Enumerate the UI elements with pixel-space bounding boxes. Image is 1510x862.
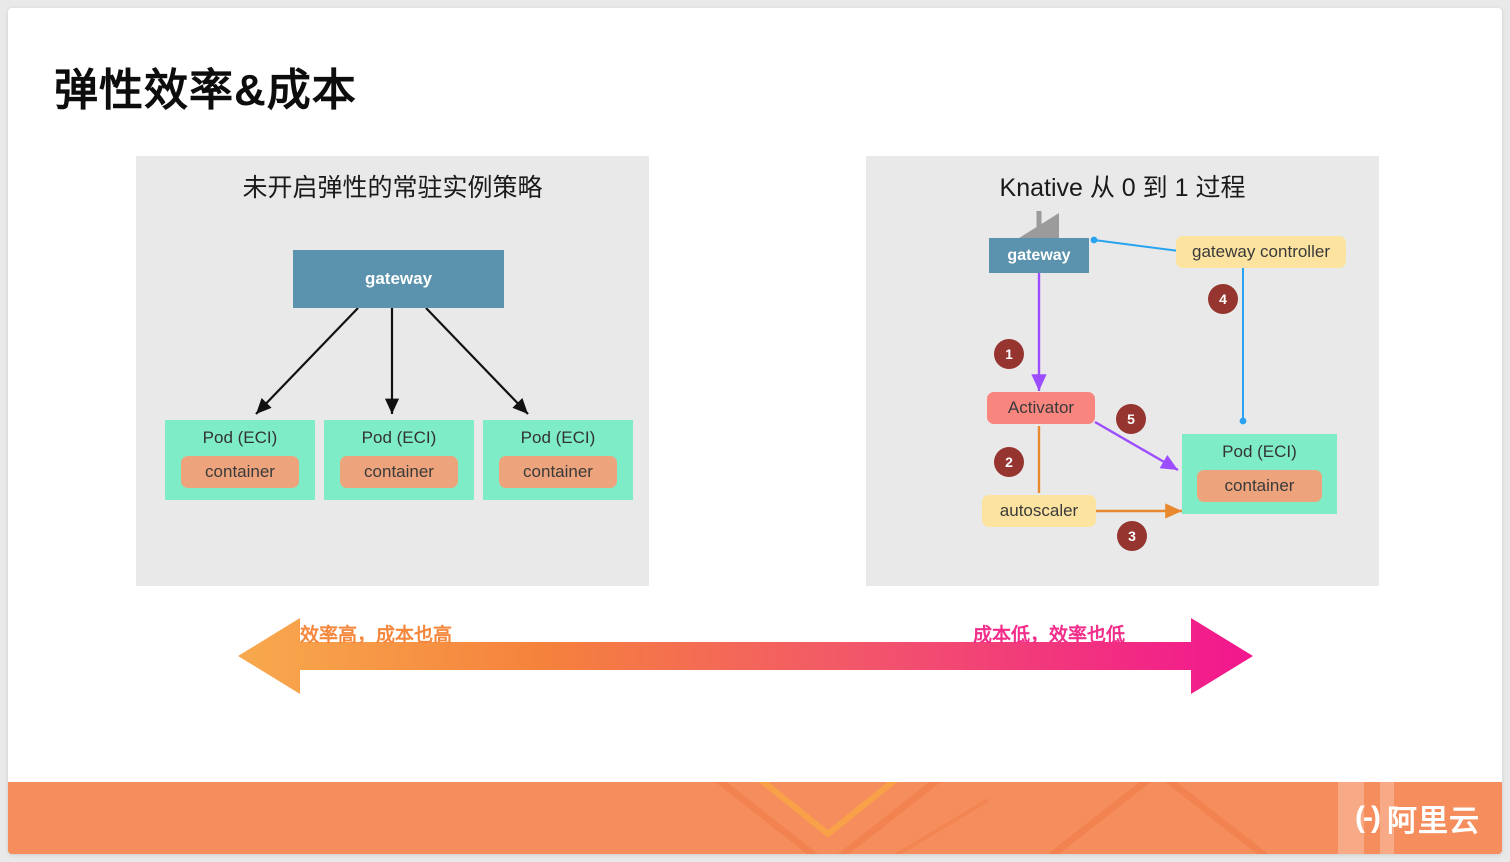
pod-title: Pod (ECI) [1222,442,1297,462]
activator-label: Activator [1008,398,1074,418]
axis-label-right: 成本低，效率也低 [973,620,1125,647]
pod-container-box[interactable]: container [499,456,617,488]
pod-container-label: container [364,462,434,482]
left-gateway-node[interactable]: gateway [293,250,504,308]
gateway-controller-label: gateway controller [1192,242,1330,262]
pod-title: Pod (ECI) [203,428,278,448]
right-pod-node[interactable]: Pod (ECI) container [1182,434,1337,514]
page-title: 弹性效率&成本 [54,54,357,118]
alibaba-cloud-logo-icon: (-) [1355,801,1379,835]
slide-canvas: 弹性效率&成本 未开启弹性的常驻实例策略 gateway Pod (ECI) c… [8,8,1502,854]
left-pod-2[interactable]: Pod (ECI) container [324,420,474,500]
step-badge-5: 5 [1116,404,1146,434]
step-badge-2: 2 [994,447,1024,477]
step-badge-1-number: 1 [1005,346,1013,362]
step-badge-4: 4 [1208,284,1238,314]
alibaba-cloud-logo-text: 阿里云 [1387,796,1480,840]
right-panel-title: Knative 从 0 到 1 过程 [866,168,1379,204]
footer-bar: (-) 阿里云 [8,782,1502,854]
axis-label-left: 效率高，成本也高 [300,620,452,647]
right-gateway-label: gateway [1007,247,1070,265]
right-panel: Knative 从 0 到 1 过程 [866,156,1379,586]
step-badge-2-number: 2 [1005,454,1013,470]
left-panel: 未开启弹性的常驻实例策略 gateway Pod (ECI) container… [136,156,649,586]
activator-node[interactable]: Activator [987,392,1095,424]
step-badge-3-number: 3 [1128,528,1136,544]
autoscaler-node[interactable]: autoscaler [982,495,1096,527]
pod-title: Pod (ECI) [521,428,596,448]
gateway-controller-node[interactable]: gateway controller [1176,236,1346,268]
right-panel-edges [866,156,1379,586]
step-badge-4-number: 4 [1219,291,1227,307]
left-panel-title: 未开启弹性的常驻实例策略 [136,168,649,204]
autoscaler-label: autoscaler [1000,501,1078,521]
left-pod-3[interactable]: Pod (ECI) container [483,420,633,500]
pod-container-box[interactable]: container [181,456,299,488]
footer-chevron-pattern [8,782,1502,854]
left-panel-edges [136,156,649,586]
pod-container-label: container [1225,476,1295,496]
pod-container-label: container [523,462,593,482]
alibaba-cloud-logo: (-) 阿里云 [1355,796,1480,840]
pod-container-box[interactable]: container [340,456,458,488]
pod-container-box[interactable]: container [1197,470,1322,502]
pod-title: Pod (ECI) [362,428,437,448]
left-gateway-label: gateway [365,269,432,289]
step-badge-1: 1 [994,339,1024,369]
left-pod-1[interactable]: Pod (ECI) container [165,420,315,500]
right-gateway-node[interactable]: gateway [989,238,1089,273]
pod-container-label: container [205,462,275,482]
step-badge-5-number: 5 [1127,411,1135,427]
step-badge-3: 3 [1117,521,1147,551]
